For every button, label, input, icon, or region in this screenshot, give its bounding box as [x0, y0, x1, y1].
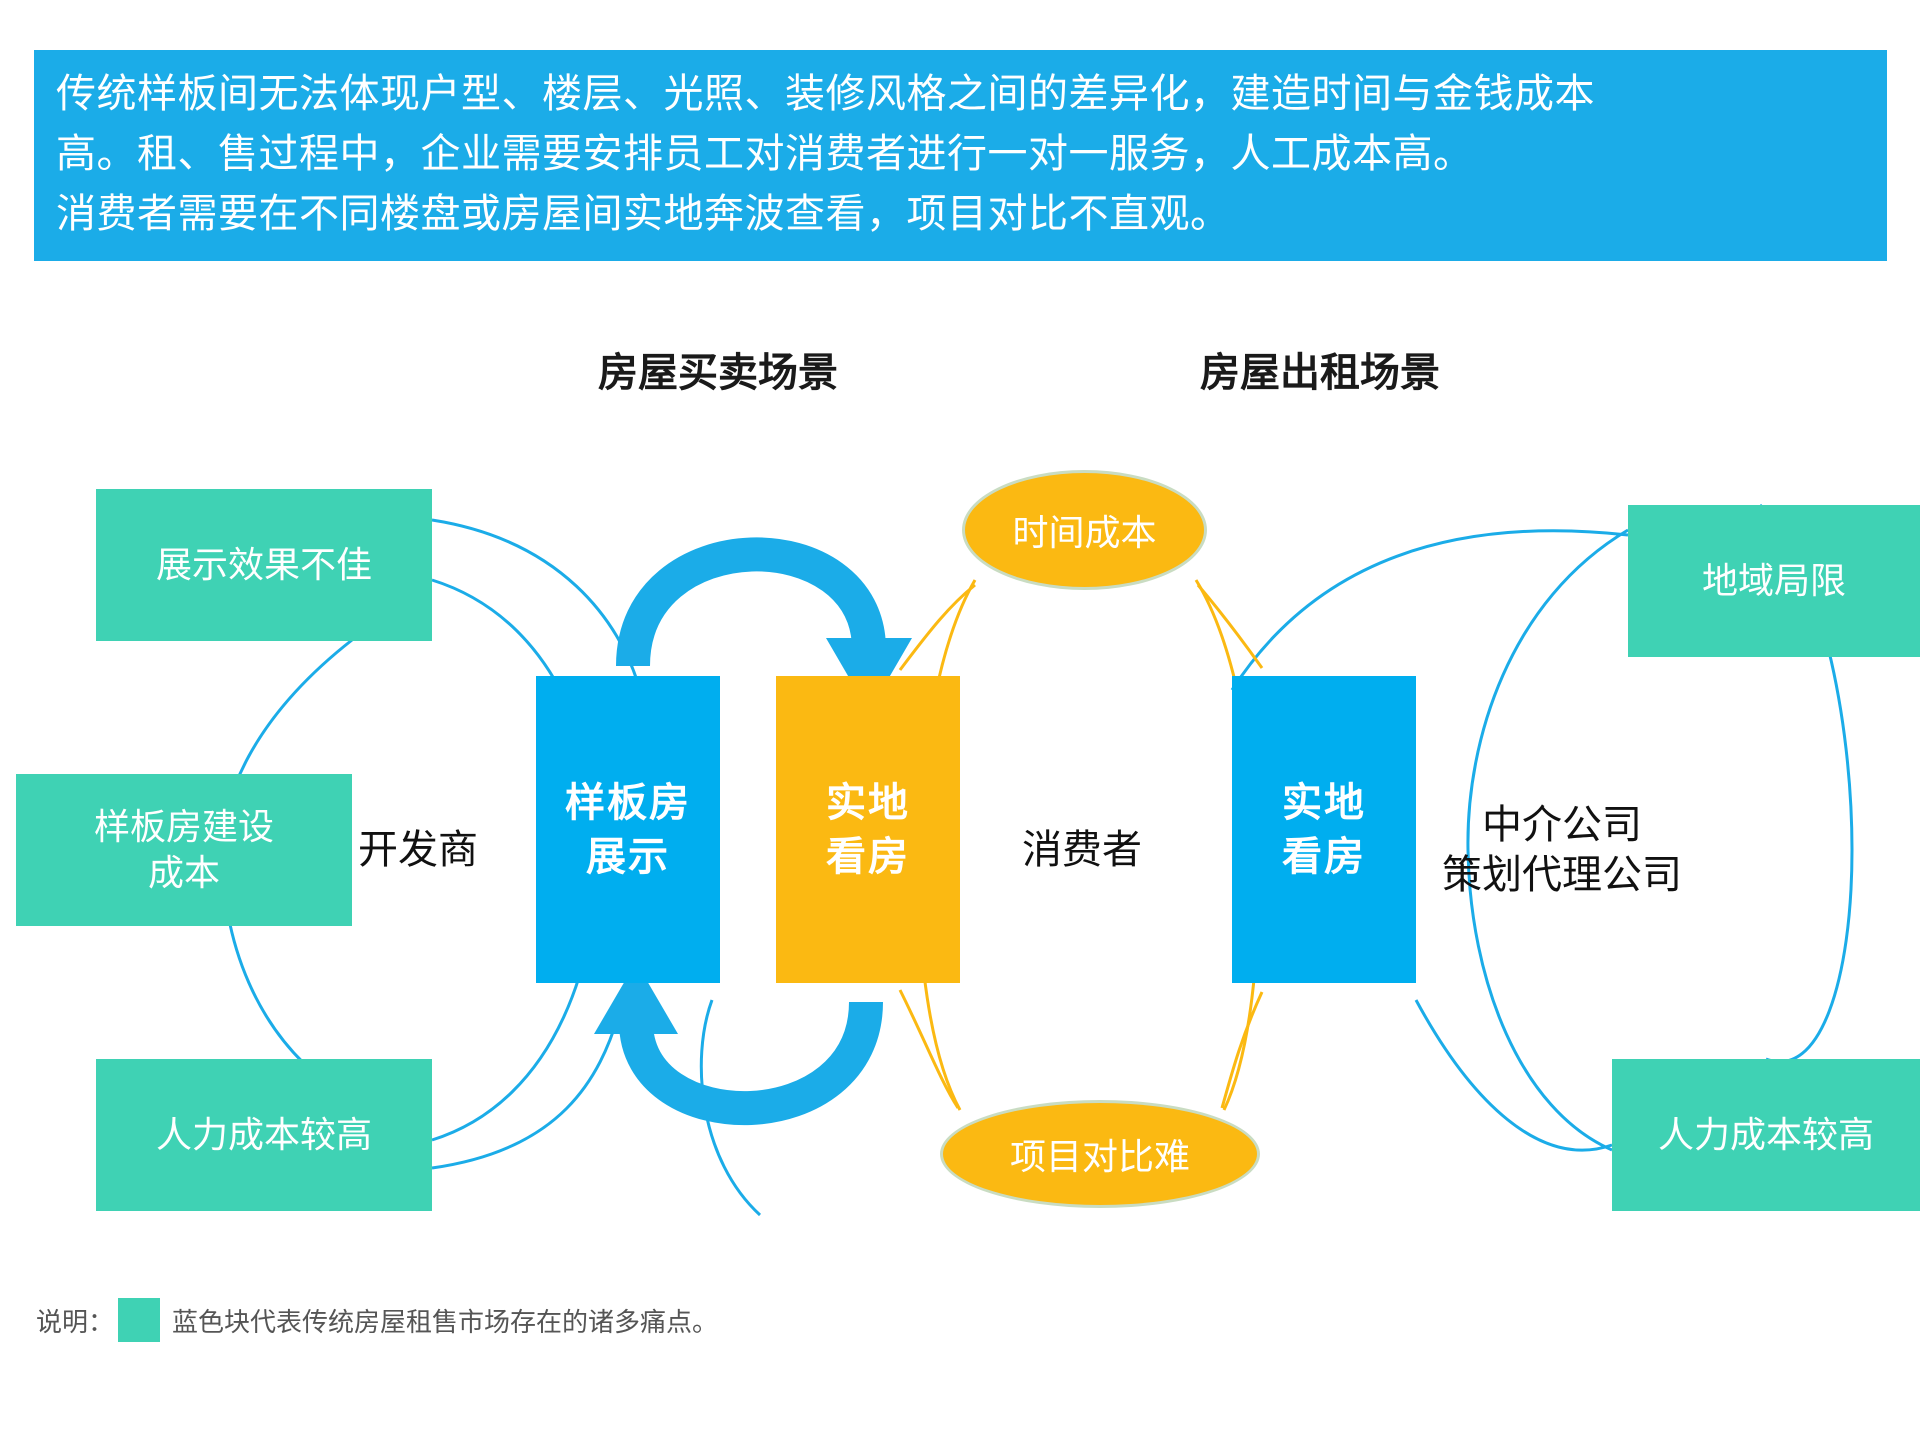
legend-description: 蓝色块代表传统房屋租售市场存在的诸多痛点。: [172, 1302, 718, 1339]
process-box-showroom-label: 样板房 展示: [565, 776, 691, 884]
process-box-visit-rent[interactable]: 实地 看房: [1232, 676, 1416, 983]
scene-title-sale: 房屋买卖场景: [598, 340, 838, 398]
pain-box-build-cost-line2: 成本: [148, 852, 220, 893]
scene-title-rent: 房屋出租场景: [1200, 340, 1440, 398]
process-box-visit-rent-line1: 实地: [1282, 781, 1366, 825]
role-label-agency-line2: 策划代理公司: [1442, 853, 1682, 897]
connector-visit-rent-yellow-top: [1198, 585, 1262, 668]
pain-box-build-cost-line1: 样板房建设: [94, 806, 274, 847]
process-box-showroom-line2: 展示: [586, 835, 670, 879]
connector-consumer-blue-left: [701, 1000, 760, 1215]
pain-box-region-limit-label: 地域局限: [1702, 558, 1846, 604]
banner-line-1: 传统样板间无法体现户型、楼层、光照、装修风格之间的差异化，建造时间与金钱成本: [56, 64, 1865, 124]
banner-line-3: 消费者需要在不同楼盘或房屋间实地奔波查看，项目对比不直观。: [56, 184, 1865, 244]
pain-box-build-cost-label: 样板房建设 成本: [94, 804, 274, 896]
process-box-showroom[interactable]: 样板房 展示: [536, 676, 720, 983]
connector-rent-lens-top: [1232, 531, 1628, 690]
legend-color-swatch: [118, 1298, 160, 1342]
banner-line-2: 高。租、售过程中，企业需要安排员工对消费者进行一对一服务，人工成本高。: [56, 124, 1865, 184]
connector-rent-lens-bottom: [1416, 1000, 1612, 1150]
legend-label: 说明：: [36, 1302, 114, 1339]
role-label-agency-line1: 中介公司: [1482, 803, 1642, 847]
process-box-visit-sale-line1: 实地: [826, 781, 910, 825]
process-box-visit-sale-line2: 看房: [826, 835, 910, 879]
pain-ellipse-time-cost-label: 时间成本: [1012, 504, 1156, 556]
arrow-visit-to-showroom: [594, 962, 866, 1108]
pain-box-build-cost[interactable]: 样板房建设 成本: [16, 774, 352, 926]
pain-box-display-effect[interactable]: 展示效果不佳: [96, 489, 432, 641]
pain-box-labor-cost-left[interactable]: 人力成本较高: [96, 1059, 432, 1211]
process-box-visit-rent-label: 实地 看房: [1282, 776, 1366, 884]
pain-box-labor-cost-left-label: 人力成本较高: [156, 1112, 372, 1158]
header-banner: 传统样板间无法体现户型、楼层、光照、装修风格之间的差异化，建造时间与金钱成本 高…: [34, 50, 1887, 261]
pain-ellipse-time-cost[interactable]: 时间成本: [962, 470, 1207, 590]
connector-visit-sale-yellow-top: [900, 585, 975, 670]
process-box-visit-rent-line2: 看房: [1282, 835, 1366, 879]
pain-box-display-effect-label: 展示效果不佳: [156, 542, 372, 588]
connector-visit-rent-yellow-bottom: [1222, 992, 1262, 1108]
role-label-agency: 中介公司 策划代理公司: [1442, 800, 1682, 900]
pain-ellipse-compare-hard-label: 项目对比难: [1010, 1128, 1190, 1180]
process-box-visit-sale-label: 实地 看房: [826, 776, 910, 884]
connector-visit-sale-yellow-bottom: [900, 990, 958, 1108]
role-label-consumer: 消费者: [1022, 825, 1142, 875]
role-label-developer: 开发商: [358, 825, 478, 875]
legend: 说明： 蓝色块代表传统房屋租售市场存在的诸多痛点。: [36, 1298, 718, 1342]
pain-box-region-limit[interactable]: 地域局限: [1628, 505, 1920, 657]
process-box-showroom-line1: 样板房: [565, 781, 691, 825]
connector-sale-lens-left: [432, 520, 640, 690]
process-box-visit-sale[interactable]: 实地 看房: [776, 676, 960, 983]
pain-box-labor-cost-right[interactable]: 人力成本较高: [1612, 1059, 1920, 1211]
pain-ellipse-compare-hard[interactable]: 项目对比难: [940, 1100, 1260, 1208]
connector-right-outer-lower: [1766, 850, 1852, 1062]
pain-box-labor-cost-right-label: 人力成本较高: [1658, 1112, 1874, 1158]
diagram-canvas: 传统样板间无法体现户型、楼层、光照、装修风格之间的差异化，建造时间与金钱成本 高…: [0, 0, 1920, 1440]
connector-sale-lens-bottom: [432, 1010, 620, 1168]
